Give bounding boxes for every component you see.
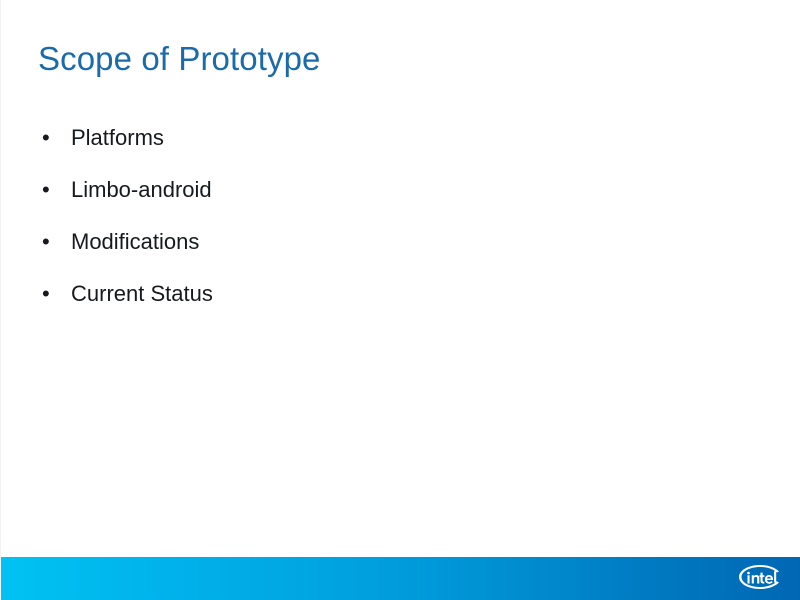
bullet-dot-icon: • xyxy=(42,276,54,312)
list-item: • Platforms xyxy=(37,120,757,172)
footer-gradient-bar xyxy=(1,557,800,600)
list-item: • Current Status xyxy=(37,276,757,328)
list-item-label: Platforms xyxy=(71,120,164,156)
intel-logo-icon xyxy=(737,562,783,592)
bullet-dot-icon: • xyxy=(42,172,54,208)
page-title: Scope of Prototype xyxy=(38,39,738,79)
bullet-dot-icon: • xyxy=(42,224,54,260)
list-item-label: Modifications xyxy=(71,224,199,260)
list-item: • Modifications xyxy=(37,224,757,276)
bullet-dot-icon: • xyxy=(42,120,54,156)
list-item: • Limbo-android xyxy=(37,172,757,224)
bullet-list: • Platforms • Limbo-android • Modificati… xyxy=(37,120,757,328)
slide: Scope of Prototype • Platforms • Limbo-a… xyxy=(0,0,800,600)
intel-logo xyxy=(737,562,783,592)
list-item-label: Limbo-android xyxy=(71,172,212,208)
list-item-label: Current Status xyxy=(71,276,213,312)
